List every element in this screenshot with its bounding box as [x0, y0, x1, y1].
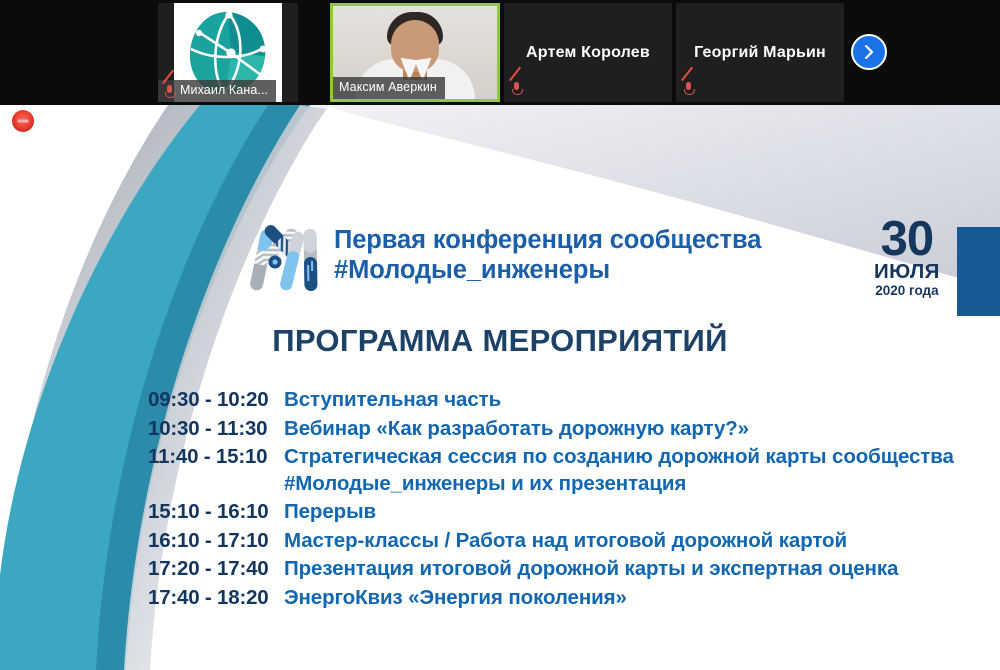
- participant-tile-2-active-speaker[interactable]: Максим Аверкин: [330, 3, 500, 102]
- slide-header-text: Первая конференция сообщества #Молодые_и…: [334, 221, 761, 285]
- header-line-2: #Молодые_инженеры: [334, 255, 761, 285]
- schedule-row: 16:10 - 17:10 Мастер-классы / Работа над…: [148, 529, 954, 553]
- schedule-description: ЭнергоКвиз «Энергия поколения»: [284, 586, 627, 610]
- participant-name-label: Михаил Кана...: [158, 80, 276, 102]
- participant-name-text: Георгий Марьин: [676, 44, 844, 62]
- schedule-time: 15:10 - 16:10: [148, 500, 284, 524]
- schedule-description: Вебинар «Как разработать дорожную карту?…: [284, 417, 749, 441]
- slide-title: ПРОГРАММА МЕРОПРИЯТИЙ: [0, 323, 1000, 359]
- schedule-row: 17:20 - 17:40 Презентация итоговой дорож…: [148, 557, 954, 581]
- date-accent-rectangle: [957, 227, 1000, 316]
- schedule-row: 11:40 - 15:10 Стратегическая сессия по с…: [148, 445, 954, 469]
- schedule-description: Вступительная часть: [284, 388, 501, 412]
- schedule-row: 10:30 - 11:30 Вебинар «Как разработать д…: [148, 417, 954, 441]
- participant-name-text: Артем Королев: [504, 44, 672, 62]
- date-day: 30: [874, 217, 940, 261]
- schedule-description: Мастер-классы / Работа над итоговой доро…: [284, 529, 847, 553]
- schedule-description: Стратегическая сессия по созданию дорожн…: [284, 445, 954, 469]
- event-date-badge: 30 ИЮЛЯ 2020 года: [874, 217, 940, 299]
- schedule-description-continued: #Молодые_инженеры и их презентация: [148, 472, 954, 496]
- date-month: ИЮЛЯ: [874, 261, 940, 283]
- chevron-right-icon: [860, 43, 878, 61]
- participant-tile-3[interactable]: Артем Королев: [504, 3, 672, 102]
- mi-logo-icon: [248, 221, 320, 297]
- shared-slide: Первая конференция сообщества #Молодые_и…: [0, 105, 1000, 670]
- participant-tile-4[interactable]: Георгий Марьин: [676, 3, 844, 102]
- participant-name-text: Михаил Кана...: [180, 83, 268, 97]
- next-participants-button[interactable]: [851, 34, 887, 70]
- mic-muted-icon: [163, 84, 176, 99]
- schedule-row: 17:40 - 18:20 ЭнергоКвиз «Энергия поколе…: [148, 586, 954, 610]
- schedule-row: 15:10 - 16:10 Перерыв: [148, 500, 954, 524]
- slide-header: Первая конференция сообщества #Молодые_и…: [248, 221, 761, 297]
- mic-muted-icon: [510, 81, 523, 96]
- participant-tile-1[interactable]: Михаил Кана...: [158, 3, 298, 102]
- header-line-1: Первая конференция сообщества: [334, 225, 761, 255]
- schedule-description: Перерыв: [284, 500, 376, 524]
- schedule-time: 11:40 - 15:10: [148, 445, 284, 469]
- schedule-time: 16:10 - 17:10: [148, 529, 284, 553]
- recording-indicator-icon[interactable]: [12, 110, 34, 132]
- schedule-time: 09:30 - 10:20: [148, 388, 284, 412]
- schedule-row: 09:30 - 10:20 Вступительная часть: [148, 388, 954, 412]
- participant-name-label: Максим Аверкин: [333, 77, 445, 99]
- schedule-description: Презентация итоговой дорожной карты и эк…: [284, 557, 898, 581]
- zoom-screen-share-view: Михаил Кана... Максим Аверкин Артем Коро…: [0, 0, 1000, 670]
- schedule-time: 17:40 - 18:20: [148, 586, 284, 610]
- date-year: 2020 года: [874, 283, 940, 299]
- schedule-list: 09:30 - 10:20 Вступительная часть 10:30 …: [148, 388, 954, 614]
- participant-filmstrip: Михаил Кана... Максим Аверкин Артем Коро…: [0, 0, 1000, 105]
- mic-muted-icon: [682, 81, 695, 96]
- schedule-time: 10:30 - 11:30: [148, 417, 284, 441]
- schedule-time: 17:20 - 17:40: [148, 557, 284, 581]
- participant-name-text: Максим Аверкин: [339, 80, 437, 94]
